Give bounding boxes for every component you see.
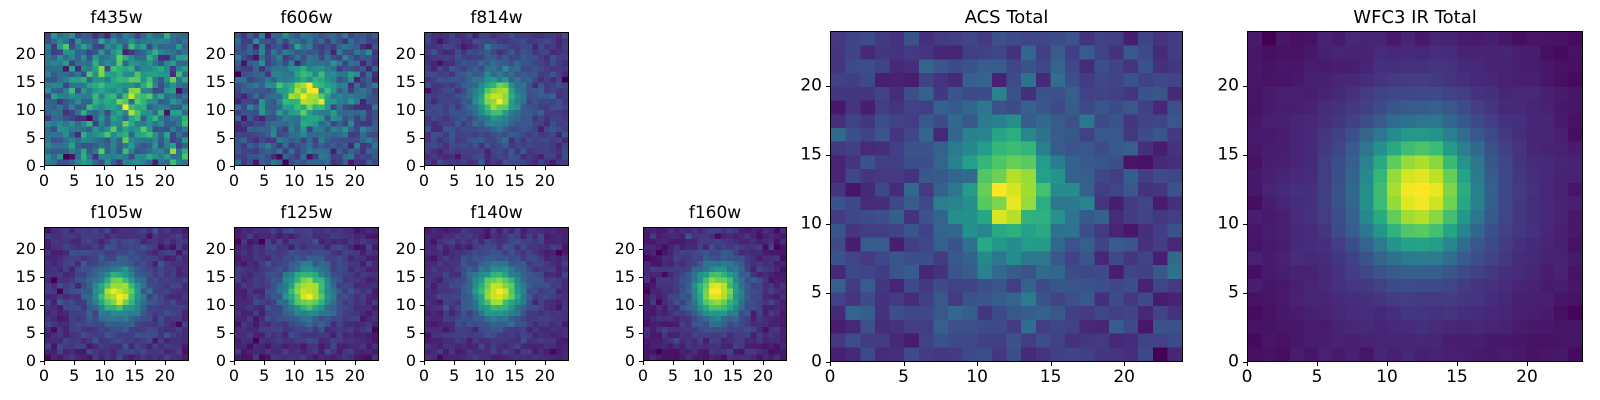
x-tick-mark bbox=[104, 166, 105, 170]
x-tick-mark bbox=[424, 166, 425, 170]
x-tick-label: 5 bbox=[69, 173, 79, 189]
x-tick-mark bbox=[673, 361, 674, 365]
y-tick-mark bbox=[40, 277, 44, 278]
y-tick-mark bbox=[420, 110, 424, 111]
x-tick-label: 20 bbox=[753, 368, 773, 384]
y-tick-label: 5 bbox=[384, 325, 416, 341]
y-tick-label: 10 bbox=[4, 102, 36, 118]
x-tick-mark bbox=[135, 166, 136, 170]
y-tick-mark bbox=[826, 155, 830, 156]
x-tick-label: 10 bbox=[966, 369, 988, 386]
x-tick-label: 15 bbox=[504, 173, 524, 189]
y-tick-mark bbox=[420, 361, 424, 362]
y-tick-mark bbox=[639, 249, 643, 250]
y-tick-mark bbox=[230, 110, 234, 111]
x-tick-mark bbox=[830, 362, 831, 366]
x-tick-mark bbox=[1124, 362, 1125, 366]
y-tick-mark bbox=[420, 305, 424, 306]
x-tick-mark bbox=[234, 361, 235, 365]
y-tick-label: 20 bbox=[4, 241, 36, 257]
heatmap-image bbox=[234, 32, 379, 166]
x-tick-label: 20 bbox=[345, 173, 365, 189]
x-tick-label: 0 bbox=[1242, 369, 1253, 386]
y-tick-mark bbox=[230, 166, 234, 167]
x-tick-mark bbox=[545, 361, 546, 365]
y-tick-label: 10 bbox=[1207, 216, 1239, 233]
x-tick-label: 0 bbox=[229, 173, 239, 189]
y-tick-mark bbox=[230, 277, 234, 278]
y-tick-label: 15 bbox=[194, 74, 226, 90]
y-tick-mark bbox=[40, 138, 44, 139]
heatmap-canvas bbox=[831, 32, 1182, 361]
x-tick-label: 5 bbox=[449, 173, 459, 189]
y-tick-label: 20 bbox=[603, 241, 635, 257]
y-tick-mark bbox=[1243, 293, 1247, 294]
y-tick-label: 20 bbox=[194, 46, 226, 62]
x-tick-label: 0 bbox=[39, 173, 49, 189]
y-tick-mark bbox=[639, 361, 643, 362]
y-tick-label: 0 bbox=[4, 353, 36, 369]
heatmap-image bbox=[1247, 31, 1583, 362]
panel-title: f606w bbox=[234, 10, 379, 27]
y-tick-mark bbox=[826, 362, 830, 363]
x-tick-label: 15 bbox=[314, 368, 334, 384]
panel-title: f435w bbox=[44, 10, 189, 27]
panel-title: f140w bbox=[424, 205, 569, 222]
x-tick-label: 10 bbox=[693, 368, 713, 384]
x-tick-mark bbox=[325, 361, 326, 365]
x-tick-label: 15 bbox=[1446, 369, 1468, 386]
y-tick-label: 0 bbox=[790, 354, 822, 371]
y-tick-label: 20 bbox=[384, 46, 416, 62]
x-tick-label: 10 bbox=[94, 368, 114, 384]
x-tick-mark bbox=[355, 361, 356, 365]
x-tick-label: 15 bbox=[124, 368, 144, 384]
y-tick-label: 10 bbox=[194, 297, 226, 313]
y-tick-label: 20 bbox=[790, 78, 822, 95]
panel-title: WFC3 IR Total bbox=[1247, 9, 1583, 27]
y-tick-mark bbox=[230, 305, 234, 306]
x-tick-label: 15 bbox=[124, 173, 144, 189]
y-tick-mark bbox=[420, 277, 424, 278]
x-tick-mark bbox=[74, 166, 75, 170]
y-tick-mark bbox=[40, 333, 44, 334]
x-tick-mark bbox=[234, 166, 235, 170]
y-tick-label: 15 bbox=[384, 269, 416, 285]
x-tick-mark bbox=[325, 166, 326, 170]
y-tick-mark bbox=[1243, 224, 1247, 225]
panel-title: f814w bbox=[424, 10, 569, 27]
y-tick-mark bbox=[230, 54, 234, 55]
x-tick-mark bbox=[1527, 362, 1528, 366]
x-tick-label: 10 bbox=[284, 173, 304, 189]
y-tick-label: 0 bbox=[194, 158, 226, 174]
x-tick-mark bbox=[643, 361, 644, 365]
y-tick-mark bbox=[826, 293, 830, 294]
x-tick-mark bbox=[165, 361, 166, 365]
x-tick-mark bbox=[545, 166, 546, 170]
x-tick-mark bbox=[135, 361, 136, 365]
x-tick-label: 0 bbox=[419, 368, 429, 384]
y-tick-label: 0 bbox=[194, 353, 226, 369]
x-tick-mark bbox=[264, 361, 265, 365]
x-tick-label: 5 bbox=[259, 368, 269, 384]
x-tick-label: 5 bbox=[69, 368, 79, 384]
y-tick-mark bbox=[40, 82, 44, 83]
x-tick-mark bbox=[763, 361, 764, 365]
heatmap-image bbox=[424, 32, 569, 166]
x-tick-label: 5 bbox=[1312, 369, 1323, 386]
x-tick-mark bbox=[1457, 362, 1458, 366]
x-tick-label: 15 bbox=[723, 368, 743, 384]
y-tick-label: 5 bbox=[194, 130, 226, 146]
x-tick-label: 15 bbox=[1040, 369, 1062, 386]
x-tick-label: 0 bbox=[229, 368, 239, 384]
x-tick-label: 0 bbox=[638, 368, 648, 384]
y-tick-label: 5 bbox=[194, 325, 226, 341]
x-tick-label: 20 bbox=[535, 173, 555, 189]
y-tick-mark bbox=[40, 361, 44, 362]
y-tick-mark bbox=[40, 249, 44, 250]
y-tick-label: 20 bbox=[1207, 78, 1239, 95]
y-tick-mark bbox=[420, 166, 424, 167]
x-tick-label: 10 bbox=[284, 368, 304, 384]
y-tick-label: 0 bbox=[384, 158, 416, 174]
y-tick-label: 0 bbox=[384, 353, 416, 369]
y-tick-label: 0 bbox=[1207, 354, 1239, 371]
x-tick-mark bbox=[454, 166, 455, 170]
panel-title: f105w bbox=[44, 205, 189, 222]
x-tick-mark bbox=[294, 361, 295, 365]
y-tick-mark bbox=[420, 54, 424, 55]
x-tick-mark bbox=[44, 361, 45, 365]
x-tick-mark bbox=[104, 361, 105, 365]
y-tick-mark bbox=[826, 224, 830, 225]
y-tick-mark bbox=[40, 110, 44, 111]
x-tick-mark bbox=[703, 361, 704, 365]
x-tick-mark bbox=[44, 166, 45, 170]
y-tick-mark bbox=[1243, 86, 1247, 87]
x-tick-label: 20 bbox=[345, 368, 365, 384]
y-tick-label: 10 bbox=[790, 216, 822, 233]
y-tick-label: 10 bbox=[4, 297, 36, 313]
x-tick-mark bbox=[484, 166, 485, 170]
figure-canvas: f435w0055101015152020f606w00551010151520… bbox=[0, 0, 1600, 400]
x-tick-mark bbox=[264, 166, 265, 170]
y-tick-label: 15 bbox=[194, 269, 226, 285]
y-tick-label: 0 bbox=[603, 353, 635, 369]
y-tick-mark bbox=[1243, 155, 1247, 156]
y-tick-mark bbox=[420, 249, 424, 250]
y-tick-label: 5 bbox=[790, 285, 822, 302]
y-tick-label: 15 bbox=[790, 147, 822, 164]
x-tick-mark bbox=[1387, 362, 1388, 366]
x-tick-label: 5 bbox=[259, 173, 269, 189]
heatmap-image bbox=[424, 227, 569, 361]
y-tick-mark bbox=[230, 82, 234, 83]
heatmap-image bbox=[643, 227, 787, 361]
panel-wfc3-ir-total: WFC3 IR Total0055101015152020 bbox=[1207, 5, 1600, 396]
heatmap-image bbox=[44, 227, 189, 361]
y-tick-mark bbox=[230, 138, 234, 139]
x-tick-mark bbox=[74, 361, 75, 365]
y-tick-label: 5 bbox=[384, 130, 416, 146]
x-tick-mark bbox=[355, 166, 356, 170]
x-tick-label: 15 bbox=[504, 368, 524, 384]
heatmap-canvas bbox=[235, 33, 378, 165]
y-tick-label: 10 bbox=[603, 297, 635, 313]
x-tick-label: 10 bbox=[474, 173, 494, 189]
x-tick-mark bbox=[484, 361, 485, 365]
heatmap-canvas bbox=[425, 33, 568, 165]
y-tick-mark bbox=[639, 277, 643, 278]
x-tick-mark bbox=[1247, 362, 1248, 366]
y-tick-label: 10 bbox=[384, 297, 416, 313]
x-tick-label: 5 bbox=[898, 369, 909, 386]
x-tick-mark bbox=[1317, 362, 1318, 366]
heatmap-canvas bbox=[644, 228, 786, 360]
x-tick-mark bbox=[515, 166, 516, 170]
y-tick-label: 5 bbox=[4, 325, 36, 341]
x-tick-label: 20 bbox=[1516, 369, 1538, 386]
heatmap-canvas bbox=[45, 228, 188, 360]
y-tick-mark bbox=[40, 166, 44, 167]
x-tick-label: 20 bbox=[155, 368, 175, 384]
x-tick-label: 20 bbox=[535, 368, 555, 384]
y-tick-mark bbox=[420, 138, 424, 139]
y-tick-label: 0 bbox=[4, 158, 36, 174]
x-tick-mark bbox=[454, 361, 455, 365]
y-tick-label: 10 bbox=[194, 102, 226, 118]
x-tick-label: 20 bbox=[155, 173, 175, 189]
y-tick-mark bbox=[230, 333, 234, 334]
y-tick-label: 10 bbox=[384, 102, 416, 118]
x-tick-mark bbox=[165, 166, 166, 170]
y-tick-label: 20 bbox=[194, 241, 226, 257]
x-tick-label: 15 bbox=[314, 173, 334, 189]
y-tick-mark bbox=[639, 333, 643, 334]
y-tick-label: 5 bbox=[1207, 285, 1239, 302]
x-tick-mark bbox=[294, 166, 295, 170]
y-tick-label: 15 bbox=[384, 74, 416, 90]
y-tick-mark bbox=[1243, 362, 1247, 363]
x-tick-label: 5 bbox=[449, 368, 459, 384]
y-tick-mark bbox=[826, 86, 830, 87]
x-tick-label: 0 bbox=[39, 368, 49, 384]
x-tick-label: 10 bbox=[1376, 369, 1398, 386]
y-tick-label: 15 bbox=[603, 269, 635, 285]
heatmap-image bbox=[44, 32, 189, 166]
heatmap-canvas bbox=[235, 228, 378, 360]
x-tick-label: 0 bbox=[419, 173, 429, 189]
heatmap-canvas bbox=[1248, 32, 1582, 361]
y-tick-label: 5 bbox=[4, 130, 36, 146]
panel-title: ACS Total bbox=[830, 9, 1183, 27]
y-tick-mark bbox=[40, 305, 44, 306]
x-tick-label: 20 bbox=[1113, 369, 1135, 386]
panel-acs-total: ACS Total0055101015152020 bbox=[790, 5, 1223, 396]
y-tick-mark bbox=[639, 305, 643, 306]
y-tick-label: 20 bbox=[384, 241, 416, 257]
y-tick-mark bbox=[230, 249, 234, 250]
x-tick-mark bbox=[515, 361, 516, 365]
x-tick-label: 0 bbox=[825, 369, 836, 386]
heatmap-image bbox=[830, 31, 1183, 362]
heatmap-canvas bbox=[425, 228, 568, 360]
x-tick-label: 10 bbox=[474, 368, 494, 384]
y-tick-label: 5 bbox=[603, 325, 635, 341]
y-tick-mark bbox=[40, 54, 44, 55]
x-tick-mark bbox=[424, 361, 425, 365]
panel-f814w: f814w0055101015152020 bbox=[384, 6, 609, 200]
y-tick-label: 15 bbox=[1207, 147, 1239, 164]
panel-title: f125w bbox=[234, 205, 379, 222]
y-tick-mark bbox=[420, 333, 424, 334]
y-tick-label: 15 bbox=[4, 74, 36, 90]
y-tick-mark bbox=[230, 361, 234, 362]
x-tick-mark bbox=[977, 362, 978, 366]
x-tick-label: 5 bbox=[668, 368, 678, 384]
x-tick-mark bbox=[904, 362, 905, 366]
y-tick-label: 15 bbox=[4, 269, 36, 285]
y-tick-label: 20 bbox=[4, 46, 36, 62]
x-tick-mark bbox=[733, 361, 734, 365]
y-tick-mark bbox=[420, 82, 424, 83]
heatmap-image bbox=[234, 227, 379, 361]
heatmap-canvas bbox=[45, 33, 188, 165]
x-tick-mark bbox=[1051, 362, 1052, 366]
x-tick-label: 10 bbox=[94, 173, 114, 189]
panel-title: f160w bbox=[643, 205, 787, 222]
panel-f140w: f140w0055101015152020 bbox=[384, 201, 609, 395]
